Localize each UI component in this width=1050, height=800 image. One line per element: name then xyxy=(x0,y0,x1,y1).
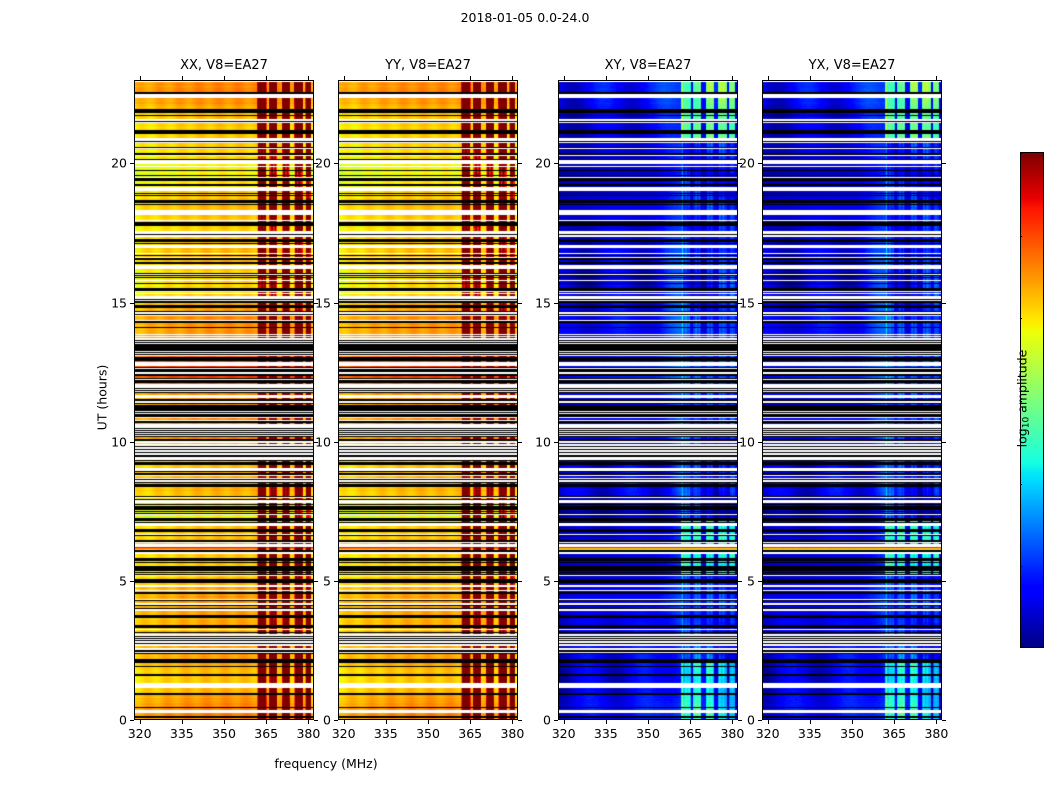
y-tick-right xyxy=(518,720,522,721)
x-tick-label: 350 xyxy=(636,726,660,741)
x-tick-top xyxy=(308,76,309,80)
y-tick-label: 20 xyxy=(111,156,127,171)
y-tick xyxy=(130,303,134,304)
x-tick-label: 365 xyxy=(458,726,482,741)
y-tick xyxy=(758,442,762,443)
x-tick xyxy=(344,720,345,724)
y-tick-right xyxy=(942,163,946,164)
x-tick-label: 350 xyxy=(840,726,864,741)
y-tick-right xyxy=(518,581,522,582)
y-tick xyxy=(554,303,558,304)
y-tick xyxy=(554,442,558,443)
heatmap-image-xy xyxy=(559,81,738,720)
colorbar-tick xyxy=(1020,566,1022,567)
y-tick-right xyxy=(942,581,946,582)
y-axis-label: UT (hours) xyxy=(95,338,110,458)
colorbar-label: log10 amplitude xyxy=(1015,333,1032,463)
x-tick-top xyxy=(386,76,387,80)
colorbar-tick xyxy=(1020,318,1022,319)
x-tick xyxy=(386,720,387,724)
x-tick xyxy=(648,720,649,724)
y-tick-label: 20 xyxy=(315,156,331,171)
x-tick-label: 335 xyxy=(594,726,618,741)
x-tick-label: 320 xyxy=(128,726,152,741)
y-tick-right xyxy=(518,163,522,164)
y-tick-right xyxy=(314,720,318,721)
y-tick-right xyxy=(942,720,946,721)
panel-xy[interactable]: XY, V8=EA27 32033535036538005101520 xyxy=(558,80,738,720)
x-tick-top xyxy=(428,76,429,80)
y-tick-label: 10 xyxy=(111,434,127,449)
y-tick-label: 10 xyxy=(535,434,551,449)
panel-title-xx: XX, V8=EA27 xyxy=(134,58,314,73)
x-tick xyxy=(732,720,733,724)
x-tick-top xyxy=(224,76,225,80)
colorbar-tick xyxy=(1020,153,1022,154)
x-axis-label: frequency (MHz) xyxy=(134,756,518,771)
y-tick xyxy=(130,720,134,721)
y-tick xyxy=(554,163,558,164)
x-tick-top xyxy=(182,76,183,80)
y-tick-label: 0 xyxy=(543,713,551,728)
panel-title-yy: YY, V8=EA27 xyxy=(338,58,518,73)
y-tick-right xyxy=(738,581,742,582)
x-tick xyxy=(606,720,607,724)
y-tick-right xyxy=(738,720,742,721)
y-tick-label: 5 xyxy=(747,573,755,588)
panel-title-xy: XY, V8=EA27 xyxy=(558,58,738,73)
x-tick xyxy=(894,720,895,724)
y-tick-label: 5 xyxy=(119,573,127,588)
panel-title-yx: YX, V8=EA27 xyxy=(762,58,942,73)
x-tick xyxy=(182,720,183,724)
x-tick xyxy=(852,720,853,724)
x-tick-label: 380 xyxy=(924,726,948,741)
x-tick-label: 380 xyxy=(720,726,744,741)
x-tick xyxy=(224,720,225,724)
y-tick-right xyxy=(314,581,318,582)
x-tick-label: 365 xyxy=(678,726,702,741)
x-tick-label: 320 xyxy=(552,726,576,741)
y-tick xyxy=(758,163,762,164)
x-tick-top xyxy=(852,76,853,80)
x-tick xyxy=(936,720,937,724)
x-tick-label: 335 xyxy=(798,726,822,741)
y-tick xyxy=(130,442,134,443)
y-tick-right xyxy=(942,303,946,304)
figure-suptitle: 2018-01-05 0.0-24.0 xyxy=(0,10,1050,25)
y-tick xyxy=(554,720,558,721)
x-tick-top xyxy=(470,76,471,80)
y-tick xyxy=(334,581,338,582)
x-tick-label: 350 xyxy=(212,726,236,741)
x-tick-top xyxy=(768,76,769,80)
x-tick-top xyxy=(564,76,565,80)
y-tick-label: 0 xyxy=(747,713,755,728)
y-tick xyxy=(130,581,134,582)
x-tick-top xyxy=(936,76,937,80)
x-tick xyxy=(810,720,811,724)
x-tick-top xyxy=(732,76,733,80)
y-tick-label: 5 xyxy=(543,573,551,588)
panel-yy[interactable]: YY, V8=EA27 32033535036538005101520 xyxy=(338,80,518,720)
x-tick-top xyxy=(690,76,691,80)
y-tick xyxy=(334,163,338,164)
y-tick-right xyxy=(518,303,522,304)
heatmap-image-yy xyxy=(339,81,518,720)
x-tick-label: 380 xyxy=(296,726,320,741)
y-tick-label: 0 xyxy=(119,713,127,728)
x-tick-label: 365 xyxy=(882,726,906,741)
colorbar-tick xyxy=(1020,484,1022,485)
colorbar-tick xyxy=(1020,236,1022,237)
heatmap-axes-yy[interactable] xyxy=(338,80,518,720)
x-tick-top xyxy=(606,76,607,80)
x-tick-label: 380 xyxy=(500,726,524,741)
colorbar-label-prefix: log xyxy=(1015,428,1030,447)
heatmap-axes-yx[interactable] xyxy=(762,80,942,720)
x-tick xyxy=(140,720,141,724)
panel-xx[interactable]: XX, V8=EA27 32033535036538005101520 xyxy=(134,80,314,720)
x-tick xyxy=(308,720,309,724)
x-tick-label: 350 xyxy=(416,726,440,741)
y-tick xyxy=(334,720,338,721)
x-tick-label: 335 xyxy=(170,726,194,741)
y-tick-label: 15 xyxy=(739,295,755,310)
x-tick-label: 320 xyxy=(756,726,780,741)
y-tick-label: 0 xyxy=(323,713,331,728)
y-tick xyxy=(334,303,338,304)
panel-yx[interactable]: YX, V8=EA27 32033535036538005101520 xyxy=(762,80,942,720)
x-tick-top xyxy=(810,76,811,80)
x-tick-top xyxy=(140,76,141,80)
y-tick-label: 15 xyxy=(315,295,331,310)
y-tick-label: 20 xyxy=(535,156,551,171)
y-tick xyxy=(758,303,762,304)
y-tick xyxy=(554,581,558,582)
x-tick-label: 335 xyxy=(374,726,398,741)
x-tick-top xyxy=(266,76,267,80)
heatmap-axes-xx[interactable] xyxy=(134,80,314,720)
heatmap-axes-xy[interactable] xyxy=(558,80,738,720)
x-tick xyxy=(690,720,691,724)
x-tick xyxy=(512,720,513,724)
heatmap-image-yx xyxy=(763,81,942,720)
y-tick-label: 10 xyxy=(739,434,755,449)
y-tick xyxy=(334,442,338,443)
x-tick xyxy=(564,720,565,724)
x-tick xyxy=(428,720,429,724)
y-tick xyxy=(130,163,134,164)
x-tick xyxy=(266,720,267,724)
figure-canvas: 2018-01-05 0.0-24.0 XX, V8=EA27 32033535… xyxy=(0,0,1050,800)
colorbar-label-suffix: amplitude xyxy=(1015,350,1030,417)
y-tick-label: 15 xyxy=(535,295,551,310)
x-tick-label: 320 xyxy=(332,726,356,741)
x-tick-label: 365 xyxy=(254,726,278,741)
y-tick-right xyxy=(518,442,522,443)
heatmap-image-xx xyxy=(135,81,314,720)
y-tick-label: 10 xyxy=(315,434,331,449)
x-tick xyxy=(470,720,471,724)
x-tick-top xyxy=(512,76,513,80)
x-tick-top xyxy=(648,76,649,80)
colorbar-label-subscript: 10 xyxy=(1021,417,1031,428)
y-tick-label: 20 xyxy=(739,156,755,171)
x-tick-top xyxy=(894,76,895,80)
y-tick-right xyxy=(942,442,946,443)
x-tick xyxy=(768,720,769,724)
x-tick-top xyxy=(344,76,345,80)
y-tick xyxy=(758,720,762,721)
y-tick-label: 15 xyxy=(111,295,127,310)
y-tick-label: 5 xyxy=(323,573,331,588)
y-tick xyxy=(758,581,762,582)
